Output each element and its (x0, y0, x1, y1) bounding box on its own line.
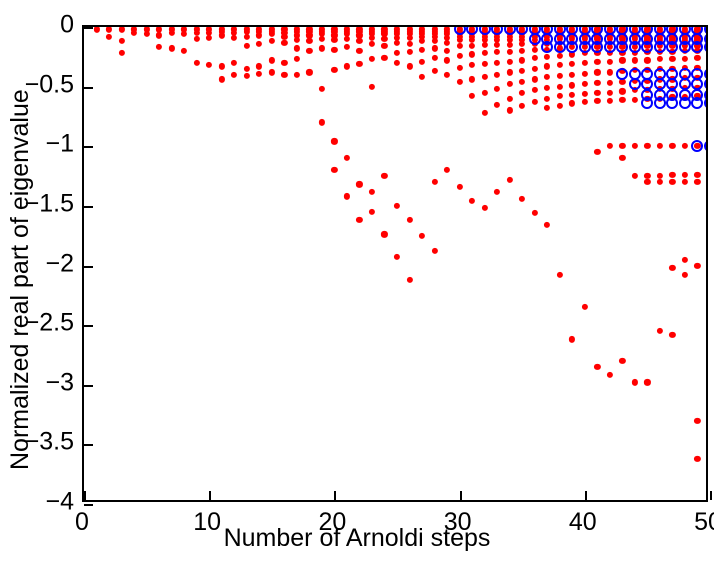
ritz-value-marker (431, 55, 437, 61)
ritz-value-marker (607, 372, 613, 378)
ritz-value-marker (532, 66, 538, 72)
ritz-value-marker (582, 99, 588, 105)
ritz-value-marker (457, 53, 463, 59)
converged-ritz-marker (516, 27, 528, 35)
converged-ritz-marker (629, 41, 641, 53)
y-tick-mark (84, 444, 93, 446)
ritz-value-marker (344, 44, 350, 50)
ritz-value-marker (281, 60, 287, 66)
x-tick-label: 20 (297, 510, 367, 535)
y-tick-mark (84, 325, 93, 327)
ritz-value-marker (169, 30, 175, 36)
ritz-value-marker (356, 61, 362, 67)
ritz-value-marker (319, 45, 325, 51)
ritz-value-marker (544, 95, 550, 101)
converged-ritz-marker (654, 97, 666, 109)
ritz-value-marker (669, 56, 675, 62)
ritz-value-marker (632, 379, 638, 385)
ritz-value-marker (607, 89, 613, 95)
ritz-value-marker (607, 98, 613, 104)
ritz-value-marker (494, 86, 500, 92)
ritz-value-marker (118, 50, 124, 56)
ritz-value-marker (682, 179, 688, 185)
ritz-value-marker (694, 417, 700, 423)
ritz-value-marker (419, 47, 425, 53)
ritz-value-marker (281, 39, 287, 45)
ritz-value-marker (369, 84, 375, 90)
ritz-value-marker (657, 179, 663, 185)
converged-ritz-marker (704, 78, 706, 90)
x-tick-mark (585, 491, 587, 500)
x-tick-label: 50 (673, 510, 714, 535)
ritz-value-marker (594, 98, 600, 104)
ritz-value-marker (507, 81, 513, 87)
ritz-value-marker (632, 143, 638, 149)
ritz-value-marker (469, 198, 475, 204)
ritz-value-marker (532, 55, 538, 61)
ritz-value-marker (657, 328, 663, 334)
ritz-value-marker (532, 210, 538, 216)
ritz-value-marker (331, 47, 337, 53)
ritz-value-marker (507, 42, 513, 48)
ritz-value-marker (569, 100, 575, 106)
ritz-value-marker (532, 47, 538, 53)
ritz-value-marker (369, 41, 375, 47)
ritz-value-marker (507, 69, 513, 75)
y-tick-mark (84, 206, 93, 208)
ritz-value-marker (269, 57, 275, 63)
ritz-value-marker (457, 184, 463, 190)
ritz-value-marker (482, 50, 488, 56)
ritz-value-marker (406, 277, 412, 283)
ritz-value-marker (569, 72, 575, 78)
ritz-value-marker (644, 379, 650, 385)
ritz-value-marker (381, 36, 387, 42)
ritz-value-marker (494, 42, 500, 48)
ritz-value-marker (682, 56, 688, 62)
converged-ritz-marker (704, 140, 706, 152)
ritz-value-marker (544, 63, 550, 69)
ritz-value-marker (219, 32, 225, 38)
ritz-value-marker (682, 272, 688, 278)
converged-ritz-marker (491, 27, 503, 35)
converged-ritz-marker (554, 41, 566, 53)
ritz-value-marker (319, 119, 325, 125)
ritz-value-marker (544, 105, 550, 111)
ritz-value-marker (344, 193, 350, 199)
ritz-value-marker (394, 203, 400, 209)
ritz-value-marker (669, 332, 675, 338)
ritz-value-marker (294, 45, 300, 51)
ritz-value-marker (594, 80, 600, 86)
ritz-value-marker (344, 63, 350, 69)
ritz-value-marker (557, 103, 563, 109)
ritz-value-marker (469, 62, 475, 68)
ritz-value-marker (544, 74, 550, 80)
ritz-value-marker (331, 67, 337, 73)
ritz-value-marker (419, 58, 425, 64)
ritz-value-marker (331, 167, 337, 173)
ritz-value-marker (582, 70, 588, 76)
x-tick-label: 0 (47, 510, 117, 535)
converged-ritz-marker (616, 68, 628, 80)
ritz-value-marker (219, 76, 225, 82)
x-tick-label: 30 (423, 510, 493, 535)
ritz-value-marker (406, 217, 412, 223)
ritz-value-marker (306, 48, 312, 54)
ritz-value-marker (469, 43, 475, 49)
ritz-value-marker (331, 138, 337, 144)
ritz-value-marker (444, 72, 450, 78)
ritz-value-marker (582, 60, 588, 66)
ritz-value-marker (507, 95, 513, 101)
ritz-value-marker (356, 38, 362, 44)
ritz-value-marker (507, 58, 513, 64)
ritz-value-marker (394, 60, 400, 66)
ritz-value-marker (619, 97, 625, 103)
ritz-value-marker (519, 196, 525, 202)
ritz-value-marker (256, 70, 262, 76)
ritz-value-marker (381, 43, 387, 49)
ritz-value-marker (582, 81, 588, 87)
ritz-value-marker (281, 72, 287, 78)
converged-ritz-marker (629, 78, 641, 90)
ritz-value-marker (519, 41, 525, 47)
y-tick-mark (84, 385, 93, 387)
ritz-value-marker (507, 107, 513, 113)
ritz-value-marker (394, 50, 400, 56)
ritz-value-marker (206, 35, 212, 41)
y-tick-mark (84, 266, 93, 268)
converged-ritz-marker (691, 41, 703, 53)
ritz-value-marker (619, 143, 625, 149)
ritz-value-marker (544, 54, 550, 60)
y-tick-mark (84, 504, 93, 506)
ritz-value-marker (431, 248, 437, 254)
ritz-value-marker (406, 63, 412, 69)
converged-ritz-marker (679, 97, 691, 109)
ritz-value-marker (557, 272, 563, 278)
plot-frame (82, 25, 708, 502)
ritz-value-marker (406, 41, 412, 47)
ritz-value-marker (519, 79, 525, 85)
ritz-value-marker (431, 68, 437, 74)
ritz-value-marker (632, 97, 638, 103)
ritz-value-marker (231, 35, 237, 41)
ritz-value-marker (482, 61, 488, 67)
x-tick-mark (460, 491, 462, 500)
ritz-value-marker (118, 27, 124, 32)
ritz-value-marker (507, 177, 513, 183)
ritz-value-marker (106, 33, 112, 39)
ritz-value-marker (619, 88, 625, 94)
ritz-value-marker (507, 49, 513, 55)
ritz-value-marker (294, 37, 300, 43)
converged-ritz-marker (704, 97, 706, 109)
ritz-value-marker (319, 86, 325, 92)
x-tick-mark (84, 491, 86, 500)
y-tick-label: −2 (4, 251, 74, 276)
converged-ritz-marker (691, 140, 703, 152)
ritz-value-marker (657, 143, 663, 149)
ritz-value-marker (369, 188, 375, 194)
y-tick-label: −1 (4, 132, 74, 157)
ritz-value-marker (419, 233, 425, 239)
ritz-value-marker (532, 99, 538, 105)
converged-ritz-marker (666, 97, 678, 109)
ritz-value-marker (269, 31, 275, 37)
converged-ritz-marker (504, 27, 516, 35)
ritz-value-marker (431, 38, 437, 44)
ritz-value-marker (231, 60, 237, 66)
ritz-value-marker (519, 68, 525, 74)
ritz-value-marker (244, 66, 250, 72)
ritz-value-marker (519, 57, 525, 63)
ritz-value-marker (557, 84, 563, 90)
converged-ritz-marker (466, 27, 478, 35)
ritz-value-marker (669, 179, 675, 185)
y-tick-label: −3 (4, 370, 74, 395)
ritz-value-marker (557, 73, 563, 79)
ritz-value-marker (381, 173, 387, 179)
converged-ritz-marker (604, 41, 616, 53)
ritz-value-marker (219, 63, 225, 69)
x-tick-label: 40 (548, 510, 618, 535)
ritz-value-marker (494, 60, 500, 66)
ritz-value-marker (369, 56, 375, 62)
ritz-value-marker (469, 76, 475, 82)
converged-ritz-marker (529, 33, 541, 45)
ritz-value-marker (557, 93, 563, 99)
ritz-value-marker (582, 91, 588, 97)
ritz-value-marker (244, 33, 250, 39)
ritz-value-marker (444, 48, 450, 54)
ritz-value-marker (457, 64, 463, 70)
converged-ritz-marker (579, 41, 591, 53)
ritz-value-marker (356, 181, 362, 187)
y-tick-label: −3.5 (4, 430, 74, 455)
y-tick-mark (84, 27, 93, 29)
ritz-value-marker (181, 48, 187, 54)
ritz-value-marker (144, 31, 150, 37)
ritz-value-marker (594, 69, 600, 75)
ritz-value-marker (194, 60, 200, 66)
y-tick-label: −2.5 (4, 311, 74, 336)
ritz-value-marker (544, 85, 550, 91)
ritz-value-marker (294, 72, 300, 78)
ritz-value-marker (569, 82, 575, 88)
ritz-value-marker (156, 32, 162, 38)
ritz-value-marker (494, 72, 500, 78)
ritz-value-marker (519, 48, 525, 54)
converged-ritz-marker (616, 41, 628, 53)
ritz-value-marker (444, 39, 450, 45)
ritz-value-marker (444, 167, 450, 173)
ritz-value-marker (206, 62, 212, 68)
converged-ritz-marker (691, 97, 703, 109)
x-tick-mark (334, 491, 336, 500)
ritz-value-marker (231, 72, 237, 78)
ritz-value-marker (169, 45, 175, 51)
converged-ritz-marker (454, 27, 466, 35)
converged-ritz-marker (704, 41, 706, 53)
ritz-value-marker (294, 56, 300, 62)
ritz-value-marker (356, 48, 362, 54)
ritz-value-marker (619, 57, 625, 63)
ritz-value-marker (482, 89, 488, 95)
ritz-value-marker (619, 358, 625, 364)
y-tick-mark (84, 87, 93, 89)
ritz-value-marker (194, 36, 200, 42)
ritz-value-marker (344, 36, 350, 42)
ritz-value-marker (394, 39, 400, 45)
ritz-value-marker (657, 56, 663, 62)
ritz-value-marker (482, 74, 488, 80)
ritz-value-marker (682, 256, 688, 262)
converged-ritz-marker (591, 41, 603, 53)
ritz-value-marker (694, 262, 700, 268)
ritz-value-marker (381, 55, 387, 61)
ritz-value-marker (632, 173, 638, 179)
ritz-value-marker (694, 55, 700, 61)
ritz-value-marker (469, 93, 475, 99)
ritz-value-marker (669, 172, 675, 178)
ritz-value-marker (682, 172, 688, 178)
ritz-value-marker (131, 30, 137, 36)
ritz-value-marker (431, 179, 437, 185)
ritz-value-marker (607, 143, 613, 149)
x-tick-mark (209, 491, 211, 500)
ritz-value-marker (494, 101, 500, 107)
ritz-value-marker (569, 336, 575, 342)
ritz-value-marker (569, 92, 575, 98)
ritz-value-marker (269, 38, 275, 44)
ritz-value-marker (594, 149, 600, 155)
ritz-value-marker (156, 44, 162, 50)
ritz-value-marker (444, 57, 450, 63)
ritz-value-marker (469, 51, 475, 57)
ritz-value-marker (319, 36, 325, 42)
ritz-value-marker (544, 222, 550, 228)
ritz-value-marker (457, 43, 463, 49)
y-tick-label: −1.5 (4, 191, 74, 216)
converged-ritz-marker (641, 97, 653, 109)
ritz-value-marker (256, 32, 262, 38)
ritz-value-marker (569, 61, 575, 67)
converged-ritz-marker (641, 41, 653, 53)
ritz-value-marker (482, 42, 488, 48)
ritz-value-marker (694, 456, 700, 462)
ritz-value-marker (494, 49, 500, 55)
plot-area (84, 27, 706, 500)
ritz-value-marker (669, 265, 675, 271)
ritz-value-marker (306, 38, 312, 44)
figure: Normalized real part of eigenvalue Numbe… (0, 0, 714, 561)
x-tick-label: 10 (172, 510, 242, 535)
ritz-value-marker (419, 38, 425, 44)
ritz-value-marker (532, 76, 538, 82)
ritz-value-marker (519, 103, 525, 109)
ritz-value-marker (494, 188, 500, 194)
ritz-value-marker (582, 304, 588, 310)
ritz-value-marker (106, 27, 112, 32)
ritz-value-marker (644, 179, 650, 185)
ritz-value-marker (519, 89, 525, 95)
converged-ritz-marker (654, 41, 666, 53)
ritz-value-marker (532, 87, 538, 93)
y-tick-label: −0.5 (4, 72, 74, 97)
ritz-value-marker (244, 73, 250, 79)
ritz-value-marker (394, 254, 400, 260)
y-tick-label: 0 (4, 13, 74, 38)
ritz-value-marker (344, 155, 350, 161)
ritz-value-marker (431, 45, 437, 51)
ritz-value-marker (256, 41, 262, 47)
ritz-value-marker (607, 69, 613, 75)
ritz-value-marker (369, 209, 375, 215)
ritz-value-marker (381, 231, 387, 237)
ritz-value-marker (682, 143, 688, 149)
converged-ritz-marker (666, 41, 678, 53)
ritz-value-marker (419, 74, 425, 80)
ritz-value-marker (557, 53, 563, 59)
x-tick-mark (710, 491, 712, 500)
ritz-value-marker (619, 155, 625, 161)
ritz-value-marker (406, 49, 412, 55)
converged-ritz-marker (479, 27, 491, 35)
ritz-value-marker (181, 31, 187, 37)
converged-ritz-marker (679, 41, 691, 53)
ritz-value-marker (644, 143, 650, 149)
ritz-value-marker (669, 143, 675, 149)
converged-ritz-marker (541, 41, 553, 53)
converged-ritz-marker (704, 68, 706, 80)
ritz-value-marker (594, 58, 600, 64)
ritz-value-marker (607, 58, 613, 64)
ritz-value-marker (644, 57, 650, 63)
ritz-value-marker (269, 69, 275, 75)
ritz-value-marker (256, 63, 262, 69)
ritz-value-marker (594, 364, 600, 370)
ritz-value-marker (557, 62, 563, 68)
ritz-value-marker (356, 217, 362, 223)
ritz-value-marker (607, 80, 613, 86)
ritz-value-marker (694, 172, 700, 178)
ritz-value-marker (619, 79, 625, 85)
y-tick-mark (84, 146, 93, 148)
ritz-value-marker (632, 57, 638, 63)
ritz-value-marker (93, 27, 99, 32)
ritz-value-marker (331, 37, 337, 43)
ritz-value-marker (244, 43, 250, 49)
ritz-value-marker (118, 38, 124, 44)
ritz-value-marker (457, 79, 463, 85)
ritz-value-marker (482, 205, 488, 211)
ritz-value-marker (694, 179, 700, 185)
ritz-value-marker (594, 89, 600, 95)
ritz-value-marker (306, 69, 312, 75)
ritz-value-marker (482, 110, 488, 116)
converged-ritz-marker (566, 41, 578, 53)
